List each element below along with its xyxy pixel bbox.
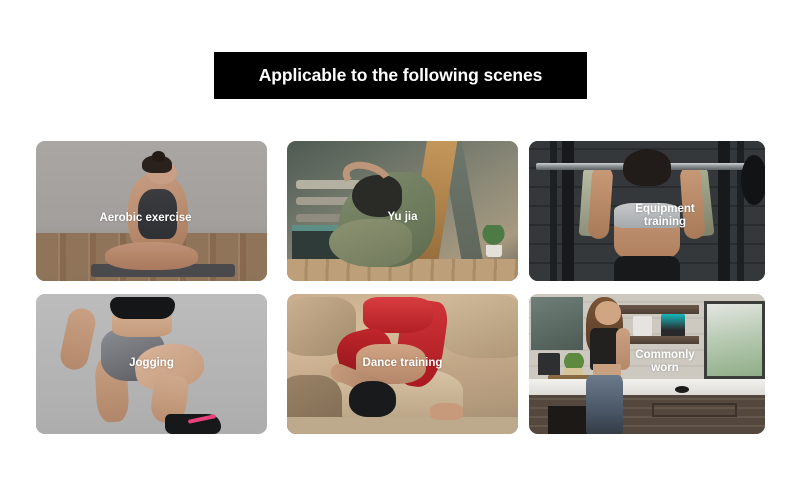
scene-grid: Aerobic exercise Yu jia Equipment traini… xyxy=(0,0,800,480)
scene-card-aerobic-exercise[interactable] xyxy=(36,141,267,281)
scene-label-commonly-worn: Commonly worn xyxy=(605,349,725,375)
scene-label-dance-training: Dance training xyxy=(287,357,518,370)
scene-label-equipment-training: Equipment training xyxy=(605,203,725,229)
scene-label-jogging: Jogging xyxy=(36,357,267,370)
scene-label-aerobic-exercise: Aerobic exercise xyxy=(58,212,233,225)
scene-label-yu-jia: Yu jia xyxy=(287,211,518,224)
scene-photo-aerobic-exercise xyxy=(36,141,267,281)
